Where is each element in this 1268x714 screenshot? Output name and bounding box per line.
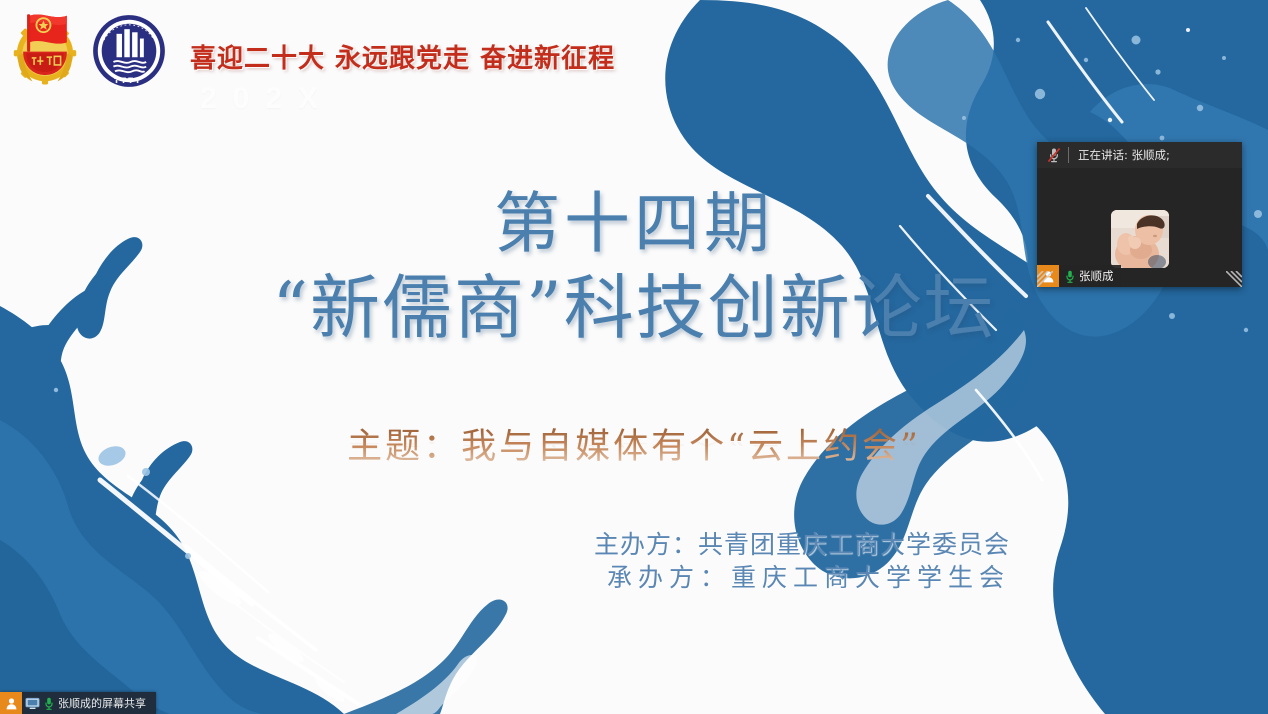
organizer-line-coordinator: 承办方：重庆工商大学学生会 [594, 561, 1010, 594]
shared-screen-slide: 喜迎二十大 永远跟党走 奋进新征程 202X 第十四期 “新儒商”科技创新论坛 … [0, 0, 1268, 714]
year-watermark-text: 202X [200, 82, 334, 116]
communist-youth-league-emblem-icon [6, 8, 84, 86]
floating-video-panel[interactable]: 正在讲话: 张顺成; [1037, 142, 1242, 287]
chongqing-technology-and-business-university-seal-icon [90, 12, 168, 90]
screen-share-label: 张顺成的屏幕共享 [58, 695, 146, 711]
screen-share-icon[interactable] [22, 697, 42, 710]
name-chip: 张顺成 [1059, 265, 1121, 287]
microphone-active-icon [1063, 270, 1076, 283]
party-slogan-text: 喜迎二十大 永远跟党走 奋进新征程 [190, 38, 615, 75]
microphone-muted-icon[interactable] [1042, 147, 1066, 163]
header-divider [1068, 147, 1069, 163]
active-speaker-label: 正在讲话: 张顺成; [1078, 147, 1170, 163]
video-stage[interactable]: 张顺成 [1037, 168, 1242, 287]
organizer-line-host: 主办方：共青团重庆工商大学委员会 [594, 528, 1010, 561]
participant-name-label: 张顺成 [1079, 268, 1114, 284]
slide-header: 喜迎二十大 永远跟党走 奋进新征程 202X [0, 0, 1010, 118]
microphone-active-icon[interactable] [42, 697, 56, 710]
video-panel-header[interactable]: 正在讲话: 张顺成; [1037, 142, 1242, 168]
host-person-icon [0, 692, 22, 714]
resize-handle-bottom-right[interactable] [1226, 271, 1242, 287]
screen-share-taskbar[interactable]: 张顺成的屏幕共享 [0, 692, 156, 714]
slide-subtitle: 主题：我与自媒体有个“云上约会” [0, 418, 1268, 469]
participant-avatar [1111, 210, 1169, 268]
resize-handle-bottom-left[interactable] [1037, 271, 1053, 287]
organizer-block: 主办方：共青团重庆工商大学委员会 承办方：重庆工商大学学生会 [594, 528, 1010, 594]
